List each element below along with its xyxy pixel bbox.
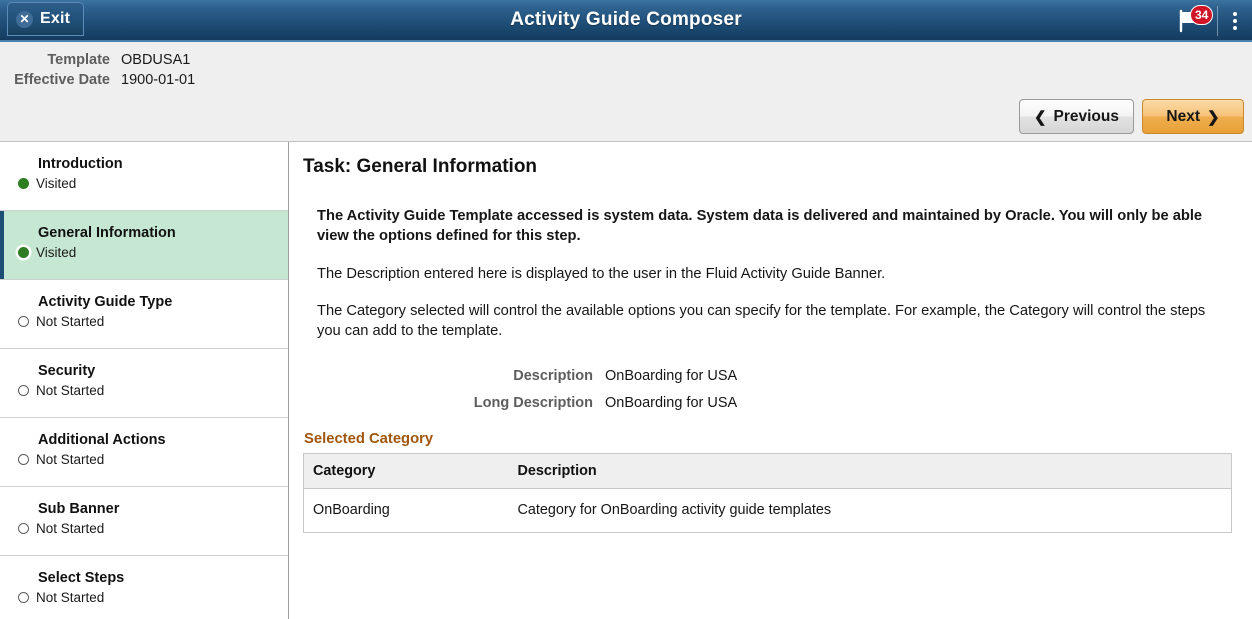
- meta-row-template: Template OBDUSA1: [0, 52, 1252, 68]
- status-not-started-icon: [18, 592, 29, 603]
- status-visited-icon: [18, 178, 29, 189]
- field-group: Description OnBoarding for USA Long Desc…: [303, 368, 1232, 411]
- sidebar-item-sub-banner[interactable]: Sub Banner Not Started: [0, 487, 288, 556]
- effective-date-label: Effective Date: [0, 72, 110, 88]
- navigation-buttons: ❮ Previous Next ❯: [1019, 99, 1244, 134]
- step-status-row: Not Started: [18, 590, 278, 605]
- template-label: Template: [0, 52, 110, 68]
- step-status: Not Started: [36, 521, 104, 536]
- status-not-started-icon: [18, 523, 29, 534]
- step-title: Introduction: [38, 155, 278, 173]
- step-title: Activity Guide Type: [38, 293, 278, 311]
- step-status-row: Not Started: [18, 452, 278, 467]
- step-title: General Information: [38, 224, 278, 242]
- paragraph-category-info: The Category selected will control the a…: [317, 301, 1232, 342]
- dot: [1233, 19, 1237, 23]
- chevron-right-icon: ❯: [1207, 108, 1220, 126]
- step-status-row: Not Started: [18, 314, 278, 329]
- sidebar-item-select-steps[interactable]: Select Steps Not Started: [0, 556, 288, 619]
- next-button-label: Next: [1166, 108, 1200, 126]
- sidebar-item-security[interactable]: Security Not Started: [0, 349, 288, 418]
- step-title: Additional Actions: [38, 431, 278, 449]
- sidebar-item-general-information[interactable]: General Information Visited: [0, 211, 288, 280]
- step-status: Not Started: [36, 590, 104, 605]
- column-header-category: Category: [304, 454, 509, 489]
- next-button[interactable]: Next ❯: [1142, 99, 1244, 134]
- cell-category: OnBoarding: [304, 489, 509, 533]
- field-row-long-description: Long Description OnBoarding for USA: [303, 395, 1232, 411]
- status-not-started-icon: [18, 385, 29, 396]
- long-description-value: OnBoarding for USA: [605, 395, 737, 411]
- effective-date-value: 1900-01-01: [121, 72, 195, 88]
- exit-button[interactable]: ✕ Exit: [7, 2, 84, 36]
- step-status: Visited: [36, 176, 76, 191]
- step-status-row: Not Started: [18, 383, 278, 398]
- app-header: ✕ Exit Activity Guide Composer 34: [0, 0, 1252, 42]
- sub-header: Template OBDUSA1 Effective Date 1900-01-…: [0, 42, 1252, 142]
- step-list-sidebar: Introduction Visited General Information…: [0, 142, 289, 619]
- exit-button-label: Exit: [40, 10, 70, 28]
- chevron-left-icon: ❮: [1034, 108, 1047, 126]
- step-title: Select Steps: [38, 569, 278, 587]
- dot: [1233, 12, 1237, 16]
- step-status-row: Visited: [18, 176, 278, 191]
- status-not-started-icon: [18, 454, 29, 465]
- column-header-description: Description: [509, 454, 1232, 489]
- table-header-row: Category Description: [304, 454, 1232, 489]
- notification-badge: 34: [1190, 5, 1213, 25]
- selected-category-section-title: Selected Category: [304, 431, 1232, 447]
- step-status: Visited: [36, 245, 76, 260]
- step-status: Not Started: [36, 383, 104, 398]
- dot: [1233, 26, 1237, 30]
- task-heading: Task: General Information: [303, 156, 1232, 178]
- header-actions: 34: [1163, 0, 1252, 42]
- step-title: Sub Banner: [38, 500, 278, 518]
- sidebar-item-activity-guide-type[interactable]: Activity Guide Type Not Started: [0, 280, 288, 349]
- vertical-dots-icon[interactable]: [1218, 0, 1252, 42]
- long-description-label: Long Description: [303, 395, 593, 411]
- table-row[interactable]: OnBoarding Category for OnBoarding activ…: [304, 489, 1232, 533]
- sidebar-item-additional-actions[interactable]: Additional Actions Not Started: [0, 418, 288, 487]
- sidebar-item-introduction[interactable]: Introduction Visited: [0, 142, 288, 211]
- meta-row-effective-date: Effective Date 1900-01-01: [0, 72, 1252, 88]
- close-x-icon: ✕: [16, 11, 33, 28]
- step-status: Not Started: [36, 452, 104, 467]
- description-value: OnBoarding for USA: [605, 368, 737, 384]
- step-status-row: Visited: [18, 245, 278, 260]
- description-label: Description: [303, 368, 593, 384]
- step-status: Not Started: [36, 314, 104, 329]
- main-content: Task: General Information The Activity G…: [289, 142, 1252, 619]
- paragraph-description-info: The Description entered here is displaye…: [317, 264, 1232, 284]
- status-not-started-icon: [18, 316, 29, 327]
- field-row-description: Description OnBoarding for USA: [303, 368, 1232, 384]
- page-title: Activity Guide Composer: [0, 9, 1252, 31]
- template-value: OBDUSA1: [121, 52, 190, 68]
- selected-category-table: Category Description OnBoarding Category…: [303, 453, 1232, 533]
- cell-description: Category for OnBoarding activity guide t…: [509, 489, 1232, 533]
- step-status-row: Not Started: [18, 521, 278, 536]
- status-visited-icon: [18, 247, 29, 258]
- template-meta: Template OBDUSA1 Effective Date 1900-01-…: [0, 42, 1252, 88]
- previous-button-label: Previous: [1054, 108, 1119, 126]
- notifications-button[interactable]: 34: [1163, 0, 1217, 42]
- intro-paragraph-system-data: The Activity Guide Template accessed is …: [317, 206, 1232, 247]
- body: Introduction Visited General Information…: [0, 142, 1252, 619]
- previous-button[interactable]: ❮ Previous: [1019, 99, 1134, 134]
- step-title: Security: [38, 362, 278, 380]
